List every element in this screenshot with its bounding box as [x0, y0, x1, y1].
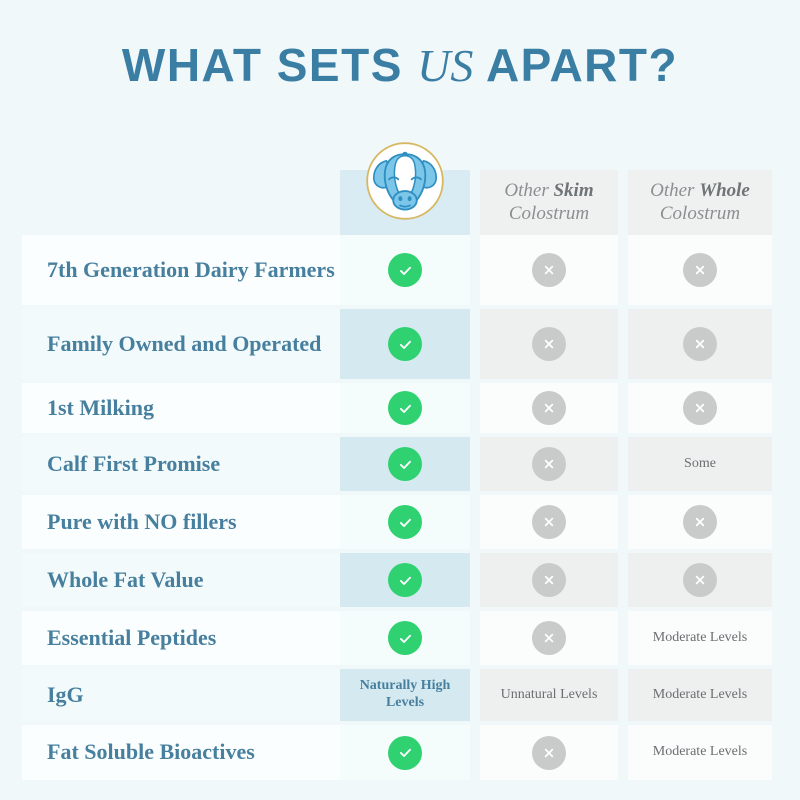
cell-spacer-1 — [470, 235, 480, 305]
cell-spacer-2 — [618, 235, 628, 305]
title-emphasis: US — [417, 40, 473, 91]
header-skim-line2: Colostrum — [509, 203, 589, 225]
cell-brand — [340, 611, 470, 665]
header-whole-line2: Colostrum — [660, 203, 740, 225]
row-label: IgG — [22, 669, 340, 721]
header-spacer-1 — [470, 133, 480, 235]
title-post: APART? — [473, 39, 678, 91]
header-skim-other: Other — [504, 180, 553, 201]
cell-spacer-2 — [618, 611, 628, 665]
comparison-table: Other Skim Colostrum Other Whole Colostr… — [22, 133, 778, 784]
cell-whole — [628, 553, 772, 607]
check-icon — [388, 505, 422, 539]
row-label: Whole Fat Value — [22, 553, 340, 607]
cell-whole: Moderate Levels — [628, 725, 772, 780]
x-icon — [532, 391, 566, 425]
cell-whole — [628, 495, 772, 549]
table-row: Family Owned and Operated — [22, 309, 778, 379]
cell-brand — [340, 725, 470, 780]
x-icon — [532, 253, 566, 287]
x-icon — [532, 736, 566, 770]
check-icon — [388, 736, 422, 770]
check-icon — [388, 621, 422, 655]
cell-skim — [480, 495, 618, 549]
x-icon — [683, 327, 717, 361]
table-row: Whole Fat Value — [22, 553, 778, 607]
cell-spacer-1 — [470, 611, 480, 665]
cell-skim — [480, 725, 618, 780]
cell-spacer-1 — [470, 437, 480, 491]
table-row: Essential PeptidesModerate Levels — [22, 611, 778, 665]
check-icon — [388, 447, 422, 481]
cell-brand — [340, 553, 470, 607]
table-row: Calf First PromiseSome — [22, 437, 778, 491]
cell-brand — [340, 235, 470, 305]
row-label-text: IgG — [47, 682, 84, 709]
cell-value-text: Moderate Levels — [653, 744, 747, 761]
row-label: Family Owned and Operated — [22, 309, 340, 379]
cell-spacer-1 — [470, 383, 480, 433]
header-whole-other: Other — [650, 180, 699, 201]
table-row: Pure with NO fillers — [22, 495, 778, 549]
table-row: Fat Soluble BioactivesModerate Levels — [22, 725, 778, 780]
cell-value-text: Some — [684, 456, 716, 473]
cell-spacer-1 — [470, 553, 480, 607]
title-pre: WHAT SETS — [122, 39, 417, 91]
header-skim-line1: Other Skim — [504, 180, 593, 202]
cell-whole — [628, 309, 772, 379]
cell-spacer-1 — [470, 495, 480, 549]
header-skim-bold: Skim — [553, 180, 593, 201]
x-icon — [532, 327, 566, 361]
x-icon — [532, 505, 566, 539]
x-icon — [532, 447, 566, 481]
cell-skim — [480, 309, 618, 379]
cell-value-text: Unnatural Levels — [501, 687, 598, 704]
cell-spacer-2 — [618, 495, 628, 549]
header-skim-column: Other Skim Colostrum — [480, 170, 618, 235]
cell-spacer-2 — [618, 437, 628, 491]
row-label: 1st Milking — [22, 383, 340, 433]
table-row: IgGNaturally High LevelsUnnatural Levels… — [22, 669, 778, 721]
cell-brand — [340, 309, 470, 379]
table-body: 7th Generation Dairy FarmersFamily Owned… — [22, 235, 778, 780]
row-label-text: Pure with NO fillers — [47, 509, 237, 536]
x-icon — [532, 563, 566, 597]
row-label-text: 1st Milking — [47, 395, 154, 422]
row-label-text: Family Owned and Operated — [47, 331, 321, 358]
cell-skim — [480, 383, 618, 433]
check-icon — [388, 391, 422, 425]
row-label: Pure with NO fillers — [22, 495, 340, 549]
header-whole-bold: Whole — [699, 180, 750, 201]
row-label-text: Fat Soluble Bioactives — [47, 739, 255, 766]
row-label-text: Whole Fat Value — [47, 567, 203, 594]
cell-skim — [480, 437, 618, 491]
cell-whole: Moderate Levels — [628, 611, 772, 665]
row-label: Essential Peptides — [22, 611, 340, 665]
cell-brand — [340, 495, 470, 549]
cell-brand: Naturally High Levels — [340, 669, 470, 721]
check-icon — [388, 327, 422, 361]
x-icon — [683, 391, 717, 425]
row-label-text: Calf First Promise — [47, 451, 220, 478]
x-icon — [532, 621, 566, 655]
cell-value-text: Moderate Levels — [653, 687, 747, 704]
header-spacer-2 — [618, 133, 628, 235]
x-icon — [683, 253, 717, 287]
x-icon — [683, 505, 717, 539]
table-row: 1st Milking — [22, 383, 778, 433]
cell-value-text: Naturally High Levels — [340, 678, 470, 712]
page-title: WHAT SETS US APART? — [122, 38, 678, 92]
cell-brand — [340, 383, 470, 433]
title-bar: WHAT SETS US APART? — [0, 0, 800, 130]
row-label-text: Essential Peptides — [47, 625, 216, 652]
cell-spacer-1 — [470, 725, 480, 780]
row-label: 7th Generation Dairy Farmers — [22, 235, 340, 305]
header-feature-column — [22, 133, 340, 235]
row-label-text: 7th Generation Dairy Farmers — [47, 257, 335, 284]
cell-spacer-2 — [618, 725, 628, 780]
cell-skim: Unnatural Levels — [480, 669, 618, 721]
cell-spacer-2 — [618, 309, 628, 379]
header-brand-column — [340, 170, 470, 235]
x-icon — [683, 563, 717, 597]
header-whole-line1: Other Whole — [650, 180, 750, 202]
cow-head-logo-icon — [363, 139, 447, 223]
cell-whole: Moderate Levels — [628, 669, 772, 721]
cell-whole: Some — [628, 437, 772, 491]
cell-spacer-2 — [618, 669, 628, 721]
cell-whole — [628, 383, 772, 433]
cell-skim — [480, 235, 618, 305]
cell-whole — [628, 235, 772, 305]
cell-spacer-2 — [618, 383, 628, 433]
cell-value-text: Moderate Levels — [653, 630, 747, 647]
row-label: Calf First Promise — [22, 437, 340, 491]
check-icon — [388, 563, 422, 597]
cell-skim — [480, 553, 618, 607]
cell-brand — [340, 437, 470, 491]
cell-spacer-1 — [470, 669, 480, 721]
cell-spacer-1 — [470, 309, 480, 379]
row-label: Fat Soluble Bioactives — [22, 725, 340, 780]
table-header-row: Other Skim Colostrum Other Whole Colostr… — [22, 133, 778, 235]
cell-skim — [480, 611, 618, 665]
cell-spacer-2 — [618, 553, 628, 607]
header-whole-column: Other Whole Colostrum — [628, 170, 772, 235]
table-row: 7th Generation Dairy Farmers — [22, 235, 778, 305]
check-icon — [388, 253, 422, 287]
